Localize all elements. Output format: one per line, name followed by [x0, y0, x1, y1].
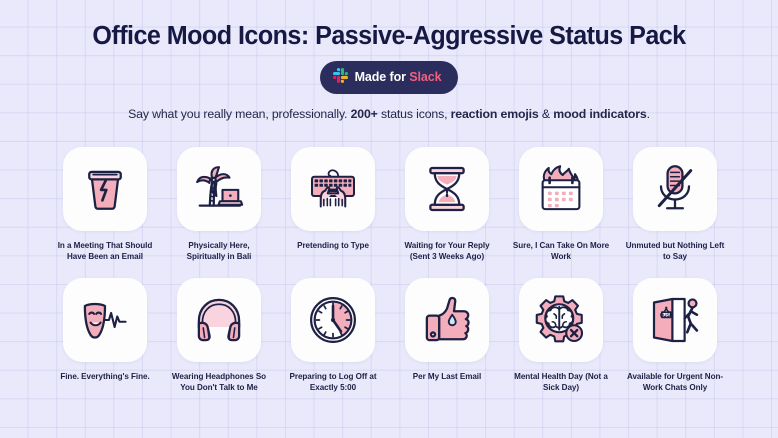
- icon-card[interactable]: [405, 147, 489, 231]
- brain-gear-x-icon: [533, 292, 589, 348]
- icon-cell[interactable]: Mental Health Day (Not a Sick Day): [519, 278, 603, 394]
- coffee-cup-cracked-icon: [77, 161, 133, 217]
- icon-card[interactable]: [177, 147, 261, 231]
- calendar-on-fire-icon: [533, 161, 589, 217]
- icon-grid: In a Meeting That Should Have Been an Em…: [63, 147, 717, 394]
- icon-label: Waiting for Your Reply (Sent 3 Weeks Ago…: [397, 240, 497, 263]
- icon-cell[interactable]: Unmuted but Nothing Left to Say: [633, 147, 717, 263]
- icon-card[interactable]: [63, 278, 147, 362]
- slack-logo-icon: [333, 68, 348, 87]
- palm-tree-laptop-icon: [191, 161, 247, 217]
- clock-five-oclock-icon: [305, 292, 361, 348]
- icon-card[interactable]: [519, 278, 603, 362]
- keyboard-hands-icon: [305, 161, 361, 217]
- icon-cell[interactable]: In a Meeting That Should Have Been an Em…: [63, 147, 147, 263]
- hourglass-icon: [419, 161, 475, 217]
- icon-card[interactable]: [633, 147, 717, 231]
- icon-card[interactable]: [405, 278, 489, 362]
- icon-label: Per My Last Email: [397, 371, 497, 382]
- icon-card[interactable]: [291, 278, 375, 362]
- icon-label: In a Meeting That Should Have Been an Em…: [55, 240, 155, 263]
- icon-label: Sure, I Can Take On More Work: [511, 240, 611, 263]
- microphone-muted-icon: [647, 161, 703, 217]
- icon-card[interactable]: [519, 147, 603, 231]
- icon-cell[interactable]: Preparing to Log Off at Exactly 5:00: [291, 278, 375, 394]
- icon-cell[interactable]: Pretending to Type: [291, 147, 375, 263]
- subtitle: Say what you really mean, professionally…: [0, 107, 778, 123]
- door-busy-walking-icon: BUSY: [647, 292, 703, 348]
- page-title: Office Mood Icons: Passive-Aggressive St…: [6, 22, 772, 50]
- icon-cell[interactable]: Sure, I Can Take On More Work: [519, 147, 603, 263]
- icon-cell[interactable]: Fine. Everything's Fine.: [63, 278, 147, 394]
- icon-label: Pretending to Type: [283, 240, 383, 251]
- icon-label: Preparing to Log Off at Exactly 5:00: [283, 371, 383, 394]
- icon-label: Fine. Everything's Fine.: [55, 371, 155, 382]
- icon-cell[interactable]: Waiting for Your Reply (Sent 3 Weeks Ago…: [405, 147, 489, 263]
- icon-label: Physically Here, Spiritually in Bali: [169, 240, 269, 263]
- svg-text:BUSY: BUSY: [660, 312, 674, 318]
- headphones-icon: [191, 292, 247, 348]
- icon-card[interactable]: BUSY: [633, 278, 717, 362]
- icon-card[interactable]: [63, 147, 147, 231]
- icon-label: Unmuted but Nothing Left to Say: [625, 240, 725, 263]
- icon-cell[interactable]: Per My Last Email: [405, 278, 489, 394]
- poster-root: Office Mood Icons: Passive-Aggressive St…: [0, 0, 778, 438]
- thumbs-up-sweat-icon: [419, 292, 475, 348]
- header: Office Mood Icons: Passive-Aggressive St…: [0, 0, 778, 123]
- badge-label: Made for Slack: [355, 71, 442, 84]
- icon-cell[interactable]: Wearing Headphones So You Don't Talk to …: [177, 278, 261, 394]
- icon-cell[interactable]: Physically Here, Spiritually in Bali: [177, 147, 261, 263]
- icon-card[interactable]: [177, 278, 261, 362]
- icon-label: Mental Health Day (Not a Sick Day): [511, 371, 611, 394]
- smiling-mask-heartbeat-icon: [77, 292, 133, 348]
- badge-row: Made for Slack: [0, 61, 778, 94]
- icon-cell[interactable]: BUSY Available for Urgent Non-Work Chats…: [633, 278, 717, 394]
- icon-card[interactable]: [291, 147, 375, 231]
- icon-label: Wearing Headphones So You Don't Talk to …: [169, 371, 269, 394]
- made-for-slack-badge[interactable]: Made for Slack: [320, 61, 459, 94]
- icon-label: Available for Urgent Non-Work Chats Only: [625, 371, 725, 394]
